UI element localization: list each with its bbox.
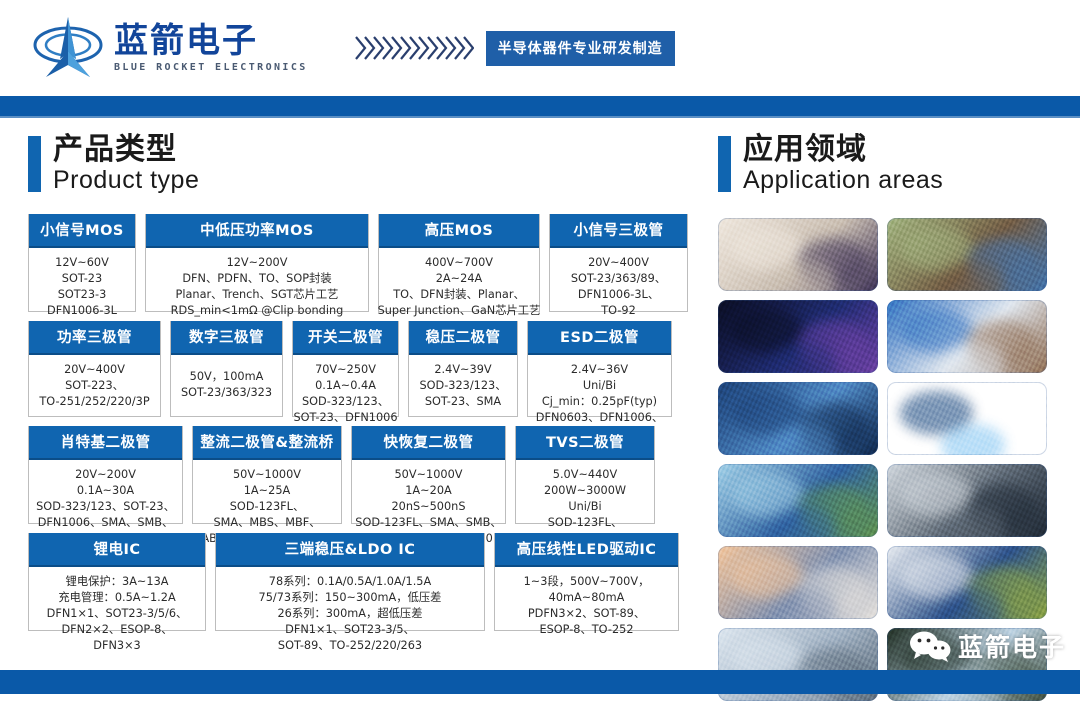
product-card-title: 小信号MOS: [29, 214, 135, 248]
product-card-title: 肖特基二极管: [29, 426, 182, 460]
product-spec-line: SOT23-3: [58, 287, 107, 303]
product-spec-line: 2A~24A: [436, 271, 482, 287]
product-spec-line: 26系列：300mA，超低压差: [277, 606, 422, 622]
product-spec-line: 78系列：0.1A/0.5A/1.0A/1.5A: [269, 574, 431, 590]
product-card-specs: 2.4V~39VSOD-323/123、SOT-23、SMA: [409, 355, 517, 418]
product-card-row: 肖特基二极管20V~200V0.1A~30ASOD-323/123、SOT-23…: [28, 426, 688, 524]
product-card-specs: 12V~60VSOT-23SOT23-3DFN1006-3L: [29, 248, 135, 327]
product-spec-line: SOD-123FL、: [548, 515, 623, 531]
product-spec-line: Planar、Trench、SGT芯片工艺: [176, 287, 339, 303]
product-card[interactable]: 高压线性LED驱动IC1~3段，500V~700V，40mA~80mAPDFN3…: [494, 533, 679, 631]
product-spec-line: 400V~700V: [425, 255, 493, 271]
product-spec-line: 200W~3000W: [544, 483, 626, 499]
product-spec-line: ESOP-8、TO-252: [539, 622, 633, 638]
product-spec-line: 20V~400V: [64, 362, 125, 378]
product-card-title: 中低压功率MOS: [146, 214, 368, 248]
product-spec-line: SOD-323/123、SOT-23、: [36, 499, 175, 515]
product-spec-line: DFN1006、SMA、SMB、: [38, 515, 174, 531]
product-spec-line: DFN3×3: [93, 638, 141, 654]
chevron-arrows-icon: [354, 31, 474, 65]
product-spec-line: SOT-89、TO-252/220/263: [278, 638, 422, 654]
brand-logo[interactable]: 蓝箭电子 BLUE ROCKET ELECTRONICS: [30, 15, 308, 81]
product-spec-line: 12V~200V: [227, 255, 288, 271]
product-card-title: 稳压二极管: [409, 321, 517, 355]
product-spec-line: SOT-223、: [65, 378, 124, 394]
product-card-specs: 20V~400VSOT-223、TO-251/252/220/3P: [29, 355, 160, 418]
product-card[interactable]: ESD二极管2.4V~36VUni/BiCj_min：0.25pF(typ)DF…: [527, 321, 672, 417]
product-card-title: TVS二极管: [516, 426, 654, 460]
product-spec-line: SOD-123FL、: [230, 499, 305, 515]
product-card[interactable]: 锂电IC锂电保护：3A~13A充电管理：0.5A~1.2ADFN1×1、SOT2…: [28, 533, 206, 631]
blue-rocket-logo-icon: [30, 15, 106, 81]
product-spec-line: SOT-23、SMA: [425, 394, 501, 410]
product-card-title: 高压线性LED驱动IC: [495, 533, 678, 567]
product-spec-line: 50V，100mA: [190, 369, 264, 385]
product-card-title: 锂电IC: [29, 533, 205, 567]
product-spec-line: DFN1×1、SOT23-3/5、: [285, 622, 415, 638]
content-stage: 产品类型 Product type 小信号MOS12V~60VSOT-23SOT…: [0, 118, 1080, 670]
product-type-heading: 产品类型 Product type: [28, 134, 688, 194]
product-spec-line: SOD-123FL、SMA、SMB、: [355, 515, 501, 531]
product-spec-line: 0.1A~30A: [77, 483, 134, 499]
product-card-title: 功率三极管: [29, 321, 160, 355]
product-spec-line: 50V~1000V: [233, 467, 301, 483]
product-card[interactable]: 小信号三极管20V~400VSOT-23/363/89、DFN1006-3L、T…: [549, 214, 688, 312]
footer-blue-bar: [0, 670, 1080, 694]
product-spec-line: DFN、PDFN、TO、SOP封装: [182, 271, 331, 287]
product-spec-line: 2.4V~36V: [571, 362, 628, 378]
product-spec-line: TO-92: [601, 303, 636, 319]
product-card-row: 小信号MOS12V~60VSOT-23SOT23-3DFN1006-3L中低压功…: [28, 214, 688, 312]
heading-accent-bar: [28, 136, 41, 192]
product-card-title: 数字三极管: [171, 321, 282, 355]
product-spec-line: 20nS~500nS: [391, 499, 465, 515]
product-card-specs: 78系列：0.1A/0.5A/1.0A/1.5A75/73系列：150~300m…: [216, 567, 484, 662]
smart-city-night-photo: [718, 382, 878, 455]
home-appliances-photo: [887, 300, 1047, 373]
product-type-title-en: Product type: [53, 167, 199, 195]
product-card-specs: 锂电保护：3A~13A充电管理：0.5A~1.2ADFN1×1、SOT23-3/…: [29, 567, 205, 662]
product-spec-line: TO-251/252/220/3P: [39, 394, 149, 410]
product-spec-line: RDS_min<1mΩ @Clip bonding: [171, 303, 344, 319]
ai-robot-photo: [887, 382, 1047, 455]
product-spec-line: DFN0603、DFN1006、: [536, 410, 663, 426]
brand-wordmark: 蓝箭电子 BLUE ROCKET ELECTRONICS: [114, 24, 308, 73]
product-card-specs: 400V~700V2A~24ATO、DFN封装、Planar、Super Jun…: [379, 248, 539, 327]
laptop-computer-photo: [718, 218, 878, 291]
product-card-title: 三端稳压&LDO IC: [216, 533, 484, 567]
product-card-title: 小信号三极管: [550, 214, 687, 248]
product-spec-line: DFN2×2、ESOP-8、: [61, 622, 172, 638]
product-spec-line: 70V~250V: [315, 362, 376, 378]
product-spec-line: 12V~60V: [55, 255, 109, 271]
product-spec-line: Uni/Bi: [583, 378, 616, 394]
product-spec-line: SOD-323/123、: [302, 394, 389, 410]
product-card[interactable]: 中低压功率MOS12V~200VDFN、PDFN、TO、SOP封装Planar、…: [145, 214, 369, 312]
industrial-robot-arms-photo: [887, 464, 1047, 537]
product-spec-line: 40mA~80mA: [549, 590, 625, 606]
application-photo-row: [718, 382, 1048, 455]
product-card[interactable]: 功率三极管20V~400VSOT-223、TO-251/252/220/3P: [28, 321, 161, 417]
application-photo-row: [718, 300, 1048, 373]
application-photo-row: [718, 218, 1048, 291]
outdoor-family-gathering-photo: [887, 218, 1047, 291]
product-card[interactable]: 快恢复二极管50V~1000V1A~20A20nS~500nSSOD-123FL…: [351, 426, 506, 524]
page-header: 蓝箭电子 BLUE ROCKET ELECTRONICS 半导体器件专业研发制造: [0, 0, 1080, 96]
product-spec-line: SOT-23、DFN1006: [293, 410, 397, 426]
product-spec-line: PDFN3×2、SOT-89、: [528, 606, 645, 622]
heading-accent-bar: [718, 136, 731, 192]
product-card-specs: 20V~400VSOT-23/363/89、DFN1006-3L、TO-92: [550, 248, 687, 327]
product-spec-line: 1~3段，500V~700V，: [524, 574, 650, 590]
product-spec-line: 5.0V~440V: [553, 467, 617, 483]
brand-name-cn: 蓝箭电子: [114, 24, 308, 58]
product-spec-line: 1A~20A: [405, 483, 451, 499]
product-card[interactable]: 整流二极管&整流桥50V~1000V1A~25ASOD-123FL、SMA、MB…: [192, 426, 342, 524]
application-areas-section: 应用领域 Application areas: [718, 134, 1058, 701]
high-speed-train-photo: [718, 546, 878, 619]
product-spec-line: Uni/Bi: [568, 499, 601, 515]
solar-wind-energy-photo: [718, 464, 878, 537]
brand-name-en: BLUE ROCKET ELECTRONICS: [114, 63, 308, 73]
product-type-title-cn: 产品类型: [53, 134, 199, 166]
application-photo-row: [718, 464, 1048, 537]
product-card[interactable]: TVS二极管5.0V~440V200W~3000WUni/BiSOD-123FL…: [515, 426, 655, 524]
product-spec-line: SOT-23: [62, 271, 102, 287]
product-spec-line: 75/73系列：150~300mA，低压差: [259, 590, 442, 606]
product-card-title: 整流二极管&整流桥: [193, 426, 341, 460]
product-spec-line: Cj_min：0.25pF(typ): [542, 394, 657, 410]
product-card[interactable]: 稳压二极管2.4V~39VSOD-323/123、SOT-23、SMA: [408, 321, 518, 417]
product-spec-line: DFN1006-3L、: [578, 287, 659, 303]
product-card[interactable]: 开关二极管70V~250V0.1A~0.4ASOD-323/123、SOT-23…: [292, 321, 399, 417]
product-spec-line: DFN1×1、SOT23-3/5/6、: [47, 606, 188, 622]
product-spec-line: SOD-323/123、: [419, 378, 506, 394]
application-areas-title-en: Application areas: [743, 167, 943, 195]
product-type-section: 产品类型 Product type 小信号MOS12V~60VSOT-23SOT…: [28, 134, 688, 640]
product-card-specs: 12V~200VDFN、PDFN、TO、SOP封装Planar、Trench、S…: [146, 248, 368, 327]
product-spec-line: SOT-23/363/323: [181, 385, 272, 401]
product-spec-line: TO、DFN封装、Planar、: [393, 287, 525, 303]
product-spec-line: 1A~25A: [244, 483, 290, 499]
application-photo-row: [718, 546, 1048, 619]
product-spec-line: SOT-23/363/89、: [571, 271, 666, 287]
product-card[interactable]: 数字三极管50V，100mASOT-23/363/323: [170, 321, 283, 417]
product-spec-line: SMA、MBS、MBF、: [213, 515, 320, 531]
application-areas-heading: 应用领域 Application areas: [718, 134, 1058, 194]
product-card-title: 开关二极管: [293, 321, 398, 355]
product-card-row: 锂电IC锂电保护：3A~13A充电管理：0.5A~1.2ADFN1×1、SOT2…: [28, 533, 688, 631]
product-card-specs: 1~3段，500V~700V，40mA~80mAPDFN3×2、SOT-89、E…: [495, 567, 678, 646]
product-spec-line: 20V~200V: [75, 467, 136, 483]
wechat-icon: [908, 630, 952, 662]
product-spec-line: Super Junction、GaN芯片工艺: [378, 303, 541, 319]
automotive-electronics-photo: [887, 546, 1047, 619]
product-card[interactable]: 三端稳压&LDO IC78系列：0.1A/0.5A/1.0A/1.5A75/73…: [215, 533, 485, 631]
product-card-row: 功率三极管20V~400VSOT-223、TO-251/252/220/3P数字…: [28, 321, 688, 417]
tagline-badge: 半导体器件专业研发制造: [486, 31, 675, 66]
wechat-account-label: 蓝箭电子: [958, 628, 1066, 664]
product-card-title: ESD二极管: [528, 321, 671, 355]
product-spec-line: 50V~1000V: [394, 467, 462, 483]
wechat-official-account-badge[interactable]: 蓝箭电子: [908, 628, 1066, 664]
application-areas-title-cn: 应用领域: [743, 134, 943, 166]
product-spec-line: 充电管理：0.5A~1.2A: [58, 590, 175, 606]
product-card-specs: 50V，100mASOT-23/363/323: [171, 355, 282, 416]
product-card-specs: 70V~250V0.1A~0.4ASOD-323/123、SOT-23、DFN1…: [293, 355, 398, 434]
product-card[interactable]: 高压MOS400V~700V2A~24ATO、DFN封装、Planar、Supe…: [378, 214, 540, 312]
wearables-circuitboard-photo: [718, 300, 878, 373]
header-blue-rule: [0, 96, 1080, 118]
product-card-title: 高压MOS: [379, 214, 539, 248]
product-card-title: 快恢复二极管: [352, 426, 505, 460]
product-spec-line: 锂电保护：3A~13A: [66, 574, 169, 590]
product-spec-line: 0.1A~0.4A: [315, 378, 376, 394]
product-spec-line: 2.4V~39V: [434, 362, 491, 378]
product-spec-line: 20V~400V: [588, 255, 649, 271]
product-card[interactable]: 小信号MOS12V~60VSOT-23SOT23-3DFN1006-3L: [28, 214, 136, 312]
product-spec-line: DFN1006-3L: [47, 303, 117, 319]
product-card[interactable]: 肖特基二极管20V~200V0.1A~30ASOD-323/123、SOT-23…: [28, 426, 183, 524]
product-card-grid: 小信号MOS12V~60VSOT-23SOT23-3DFN1006-3L中低压功…: [28, 214, 688, 631]
